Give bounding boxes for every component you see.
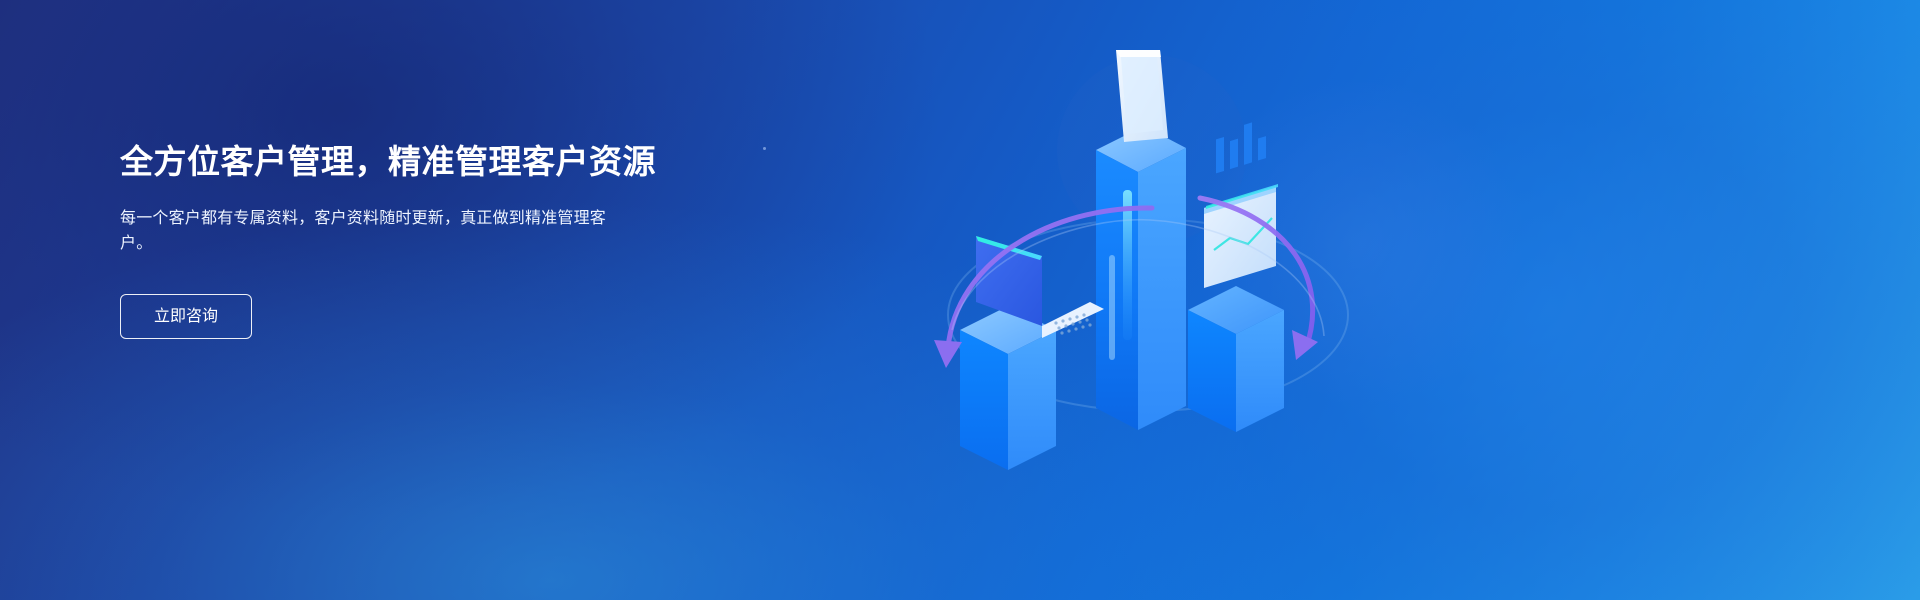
hero-copy-block: 全方位客户管理，精准管理客户资源 每一个客户都有专属资料，客户资料随时更新，真正… [120,140,820,339]
tablet-device [1116,50,1168,142]
hero-subtitle: 每一个客户都有专属资料，客户资料随时更新，真正做到精准管理客户。 [120,206,606,256]
page-title: 全方位客户管理，精准管理客户资源 [120,140,820,184]
hero-illustration [900,30,1420,500]
consult-now-button[interactable]: 立即咨询 [120,294,252,339]
pillar-right [1188,286,1284,432]
isometric-pillars-graphic [900,30,1420,500]
hero-banner: 全方位客户管理，精准管理客户资源 每一个客户都有专属资料，客户资料随时更新，真正… [0,0,1920,600]
pillar-center [1096,126,1186,430]
